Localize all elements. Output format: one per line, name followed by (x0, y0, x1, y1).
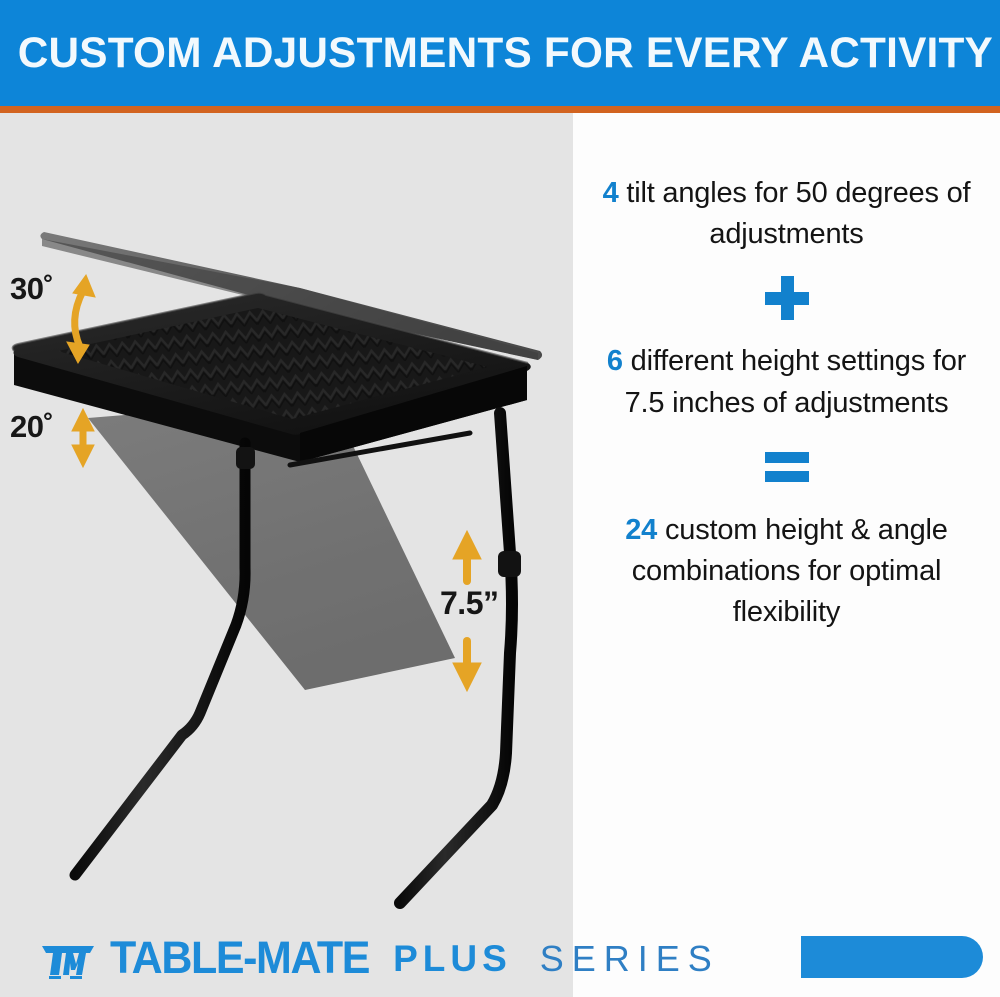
tilt-20-arrow (72, 409, 94, 467)
dimension-label-7-5-inches: 7.5” (440, 585, 498, 622)
dimension-label-30-degrees: 30˚ (10, 271, 53, 307)
infographic-page: CUSTOM ADJUSTMENTS FOR EVERY ACTIVITY (0, 0, 1000, 997)
brand-accent-bar (801, 936, 983, 978)
stat-text-tilt-angles: tilt angles for 50 degrees of adjustment… (619, 177, 971, 250)
stat-number-4: 4 (603, 177, 619, 209)
stat-number-6: 6 (607, 345, 623, 377)
stat-block-tilt-angles: 4 tilt angles for 50 degrees of adjustme… (591, 173, 982, 255)
header-accent-rule (0, 106, 1000, 113)
stat-number-24: 24 (625, 514, 657, 546)
features-text-panel: 4 tilt angles for 50 degrees of adjustme… (573, 113, 1000, 997)
operator-plus-row (591, 255, 982, 341)
equals-icon (765, 452, 809, 482)
stats-stack: 4 tilt angles for 50 degrees of adjustme… (573, 113, 1000, 633)
header-banner: CUSTOM ADJUSTMENTS FOR EVERY ACTIVITY (0, 0, 1000, 106)
page-title: CUSTOM ADJUSTMENTS FOR EVERY ACTIVITY (0, 29, 993, 78)
operator-equals-row (591, 424, 982, 510)
dimension-label-20-degrees: 20˚ (10, 409, 53, 445)
stat-block-height-settings: 6 different height settings for 7.5 inch… (591, 341, 982, 423)
stat-block-combinations: 24 custom height & angle combinations fo… (591, 510, 982, 634)
folding-table-illustration (0, 113, 573, 997)
stat-text-combinations: custom height & angle combinations for o… (632, 514, 948, 628)
stat-text-height-settings: different height settings for 7.5 inches… (623, 345, 966, 418)
plus-icon (765, 276, 809, 320)
height-adjust-collar (498, 551, 521, 577)
product-illustration-panel: 30˚ 20˚ 7.5” (0, 113, 573, 997)
